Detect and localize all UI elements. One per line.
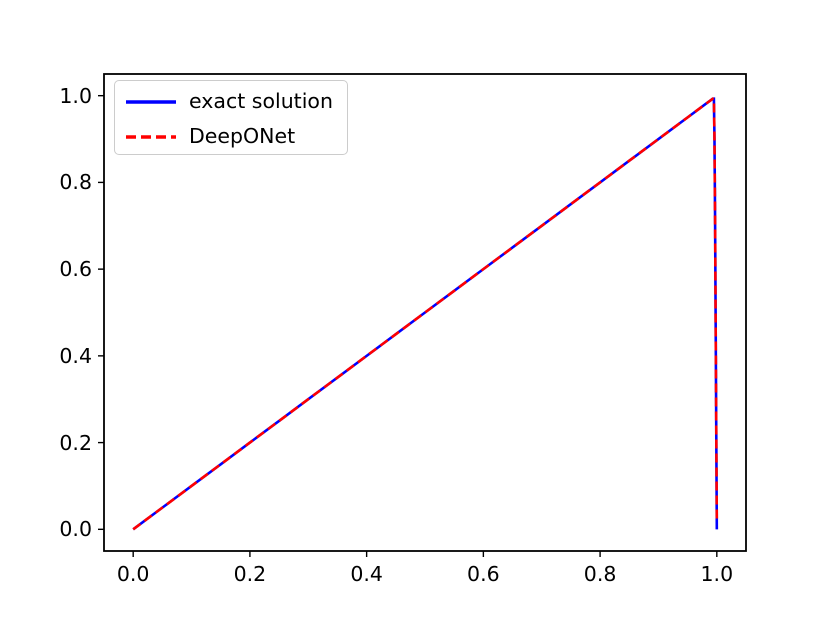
xtick-label: 0.4 (350, 564, 383, 585)
figure-canvas: 0.00.20.40.60.81.00.00.20.40.60.81.0 exa… (0, 0, 830, 622)
ytick-label: 0.8 (59, 172, 92, 193)
ytick-label: 0.0 (59, 519, 92, 540)
xtick-label: 0.2 (234, 564, 267, 585)
legend-label-deeponet: DeepONet (189, 126, 295, 147)
xtick-label: 0.8 (584, 564, 617, 585)
legend-label-exact-solution: exact solution (189, 91, 333, 112)
legend-entry-deeponet[interactable]: DeepONet (115, 118, 347, 155)
ytick-label: 1.0 (59, 85, 92, 106)
legend-entry-exact-solution[interactable]: exact solution (115, 83, 347, 120)
xtick-label: 0.0 (117, 564, 150, 585)
ytick-label: 0.6 (59, 259, 92, 280)
legend-line-sample-dashed (125, 128, 177, 146)
ytick-label: 0.4 (59, 346, 92, 367)
xtick-label: 0.6 (467, 564, 500, 585)
xtick-label: 1.0 (701, 564, 734, 585)
ytick-label: 0.2 (59, 432, 92, 453)
legend[interactable]: exact solution DeepONet (114, 80, 348, 155)
legend-line-sample-solid (125, 93, 177, 111)
